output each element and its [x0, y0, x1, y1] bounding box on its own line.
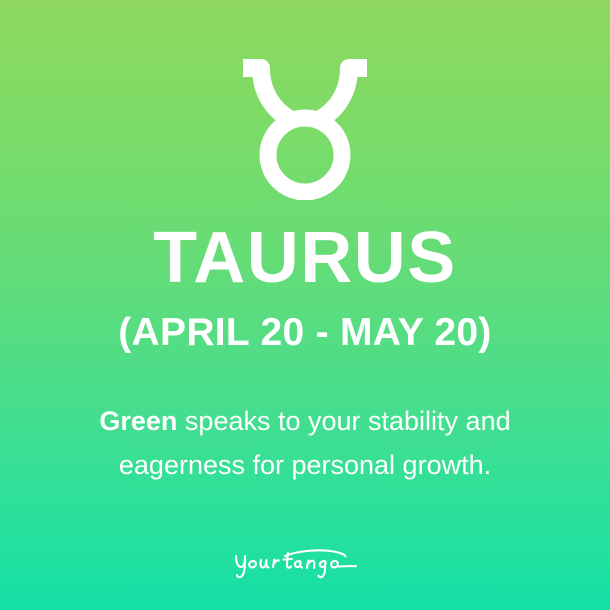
zodiac-sign-title: TAURUS: [0, 222, 610, 294]
taurus-glyph-icon: [239, 58, 371, 200]
zodiac-date-range: (APRIL 20 - MAY 20): [0, 313, 610, 352]
description-rest: speaks to your stability and eagerness f…: [119, 406, 511, 480]
zodiac-color-card: TAURUS (APRIL 20 - MAY 20) Green speaks …: [0, 0, 610, 610]
yourtango-logo: yourtango: [230, 544, 380, 580]
zodiac-description: Green speaks to your stability and eager…: [0, 400, 610, 487]
description-lead-word: Green: [99, 406, 177, 436]
